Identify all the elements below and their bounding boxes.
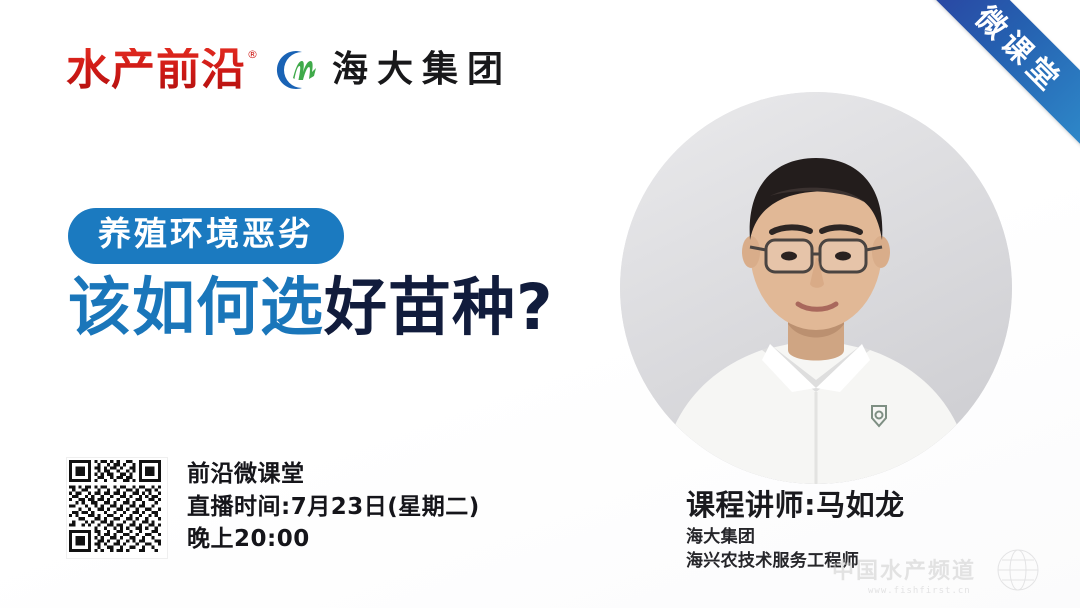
partner-logo-haida: 海大集团 [272, 48, 512, 92]
ribbon-label: 微课堂 [963, 0, 1075, 102]
headline-title-part-1: 该如何选 [68, 271, 324, 344]
schedule-hour: 晚上20:00 [187, 523, 480, 556]
brand-header: 水产前沿 ® 海大集团 [66, 48, 512, 92]
schedule-text: 前沿微课堂 直播时间:7月23日(星期二) 晚上20:00 [187, 458, 480, 556]
qr-code[interactable] [67, 458, 167, 558]
speaker-credits: 课程讲师:马如龙 海大集团 海兴农技术服务工程师 [686, 488, 905, 573]
brand-logo-text: 水产前沿 [66, 44, 246, 95]
headline-title-part-2: 好苗种? [324, 271, 554, 344]
haida-crescent-wave-icon [272, 48, 320, 92]
speaker-organization: 海大集团 [686, 526, 905, 549]
speaker-portrait [620, 92, 1012, 484]
schedule-date: 直播时间:7月23日(星期二) [187, 491, 480, 524]
speaker-name: 课程讲师:马如龙 [686, 488, 905, 522]
headline-block: 养殖环境恶劣 该如何选好苗种? [68, 208, 668, 342]
schedule-channel: 前沿微课堂 [187, 458, 480, 491]
schedule-block: 前沿微课堂 直播时间:7月23日(星期二) 晚上20:00 [67, 458, 480, 558]
registered-trademark-icon: ® [247, 49, 259, 60]
partner-logo-text: 海大集团 [332, 52, 512, 88]
brand-logo-shuichanqianyan: 水产前沿 ® [66, 48, 246, 92]
headline-title: 该如何选好苗种? [68, 274, 668, 342]
svg-text:www.fishfirst.cn: www.fishfirst.cn [868, 586, 971, 596]
headline-badge: 养殖环境恶劣 [68, 208, 344, 264]
webinar-poster: 微课堂 水产前沿 ® 海大集团 养殖环境恶劣 该如何选好苗种? [0, 0, 1080, 608]
speaker-role: 海兴农技术服务工程师 [686, 550, 905, 573]
ribbon-banner: 微课堂 [912, 0, 1080, 153]
